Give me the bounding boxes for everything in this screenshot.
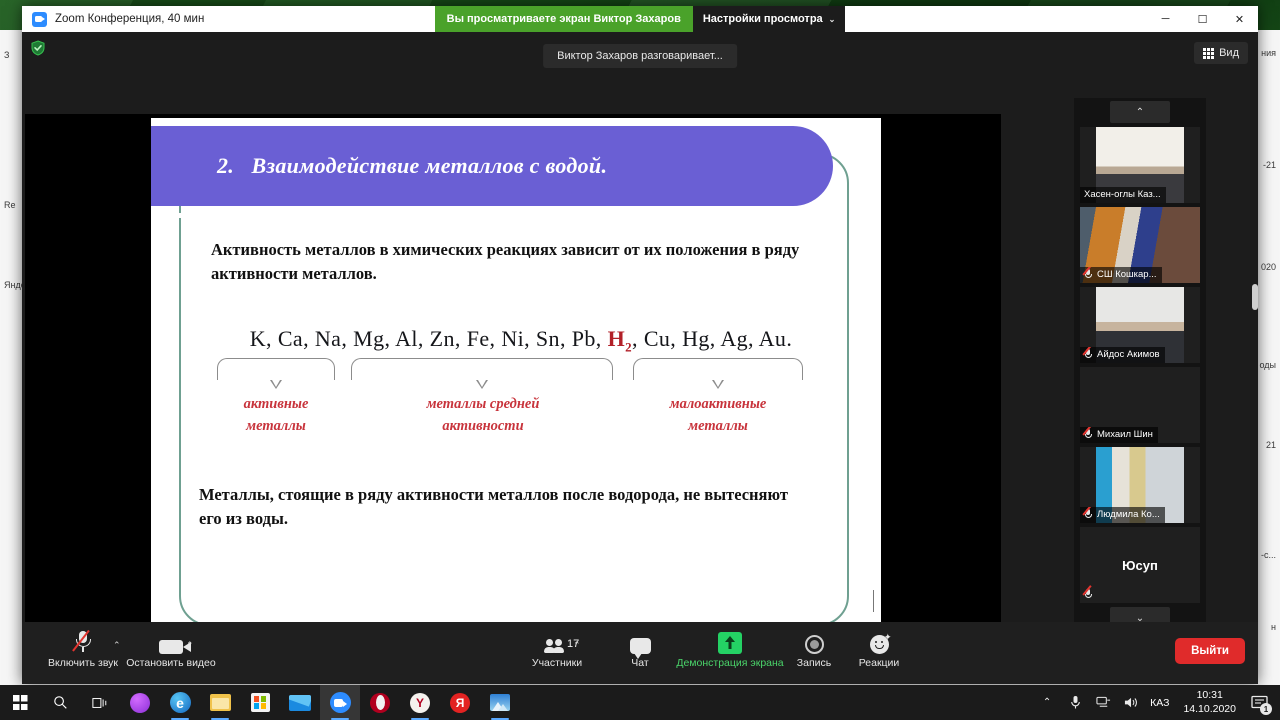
bg-fragment: 21 [1266,440,1276,450]
system-tray: ⌃ КАЗ 10:31 14.10.2020 1 [1034,685,1280,720]
zoom-window-body: Виктор Захаров разговаривает... Вид 2. В… [22,32,1258,684]
grid-icon [1203,48,1214,59]
zoom-meeting-window: Zoom Конференция, 40 мин ─ ☐ ✕ Вы просма… [22,6,1258,684]
microphone-muted-icon [1084,509,1093,520]
slide-intro-paragraph: Активность металлов в химических реакция… [211,238,811,286]
participant-name-badge: Людмила Ко... [1080,507,1165,523]
microphone-muted-icon [1084,349,1093,360]
meeting-control-bar: Включить звук ⌃ Остановить видео ⌃ 17 [22,622,1258,684]
bg-fragment: н [1271,622,1276,632]
tray-overflow-caret-icon[interactable]: ⌃ [1034,685,1060,720]
participant-tile[interactable]: Хасен-оглы Каз... [1080,127,1200,203]
slide-title-number: 2. [217,153,234,178]
window-title-bar: Zoom Конференция, 40 мин ─ ☐ ✕ Вы просма… [22,6,1258,32]
audio-label: Включить звук [48,657,118,669]
series-group-braces [211,358,831,390]
reactions-label: Реакции [859,657,900,669]
record-icon [805,628,824,654]
start-windows-icon[interactable] [0,685,40,720]
clock-date: 14.10.2020 [1183,703,1236,716]
notification-count: 1 [1260,703,1272,715]
participant-tile[interactable]: Михаил Шин [1080,367,1200,443]
video-options-caret-icon[interactable]: ⌃ [186,640,194,651]
share-screen-label: Демонстрация экрана [676,657,783,669]
participant-tile[interactable]: Людмила Ко... [1080,447,1200,523]
text-caret [873,590,874,612]
chevron-down-icon: ⌄ [829,15,836,24]
active-speaker-chip: Виктор Захаров разговаривает... [543,44,737,68]
sidebar-resize-handle[interactable] [1252,284,1258,310]
bg-fragment: ния [1261,48,1276,58]
task-view-icon[interactable] [80,685,120,720]
file-explorer-icon[interactable] [200,685,240,720]
bg-fragment: -21 [1263,160,1276,170]
participants-label: Участники [532,657,582,669]
shield-icon [30,40,46,56]
bg-fragment: -с... [1261,550,1276,560]
zoom-icon [32,12,47,27]
people-icon: 17 [544,628,570,654]
group-label-active: активныеметаллы [211,394,341,438]
slide-title-underline [153,214,797,217]
bg-fragment: 020 [1261,262,1276,272]
series-before-hydrogen: K, Ca, Na, Mg, Al, Zn, Fe, Ni, Sn, Pb, [250,326,602,351]
brace-low-active-metals [633,358,803,380]
slide-title-banner: 2. Взаимодействие металлов с водой. [151,126,833,206]
yandex-browser-icon[interactable]: Y [400,685,440,720]
microphone-muted-icon [1084,429,1093,440]
view-mode-label: Вид [1219,47,1239,59]
clock-time: 10:31 [1197,689,1223,702]
participant-tile[interactable]: СШ Кошкар... [1080,207,1200,283]
participant-name: СШ Кошкар... [1097,269,1157,280]
record-label: Запись [797,657,831,669]
filmstrip-scroll-up-button[interactable]: ⌃ [1110,101,1170,123]
slide-title-text: Взаимодействие металлов с водой. [252,153,608,178]
presentation-slide: 2. Взаимодействие металлов с водой. Акти… [151,118,881,640]
window-controls: ─ ☐ ✕ [1147,6,1258,32]
bg-fragment: Re [4,200,16,210]
hydrogen-symbol: H2 [608,326,632,351]
camera-icon [159,628,183,654]
opera-browser-icon[interactable] [360,685,400,720]
windows-taskbar: e [0,685,1280,720]
view-mode-button[interactable]: Вид [1194,42,1248,64]
participants-options-caret-icon[interactable]: ⌃ [573,640,581,651]
microphone-muted-icon [74,628,93,654]
view-options-label: Настройки просмотра [703,13,823,25]
share-screen-icon [718,628,742,654]
microphone-icon[interactable] [1062,685,1088,720]
participant-name: Айдос Акимов [1097,349,1160,360]
network-icon[interactable] [1090,685,1116,720]
volume-icon[interactable] [1118,685,1144,720]
group-label-medium: металлы среднейактивности [347,394,619,438]
shared-screen-stage[interactable]: 2. Взаимодействие металлов с водой. Акти… [25,114,1001,643]
participant-name-badge: СШ Кошкар... [1080,267,1162,283]
video-button[interactable]: Остановить видео [128,628,214,669]
participant-name: Михаил Шин [1097,429,1153,440]
participant-name-badge: Хасен-оглы Каз... [1080,187,1166,203]
clock[interactable]: 10:31 14.10.2020 [1175,689,1244,715]
search-icon[interactable] [40,685,80,720]
bg-fragment: З [4,50,9,60]
series-after-hydrogen: , Cu, Hg, Ag, Au. [632,326,792,351]
participant-name-badge: Айдос Акимов [1080,347,1165,363]
microphone-muted-icon [1084,589,1093,600]
group-label-low: малоактивныеметаллы [629,394,807,438]
action-center-icon[interactable]: 1 [1246,685,1274,720]
yandex-icon[interactable]: Я [440,685,480,720]
participant-name-badge: Михаил Шин [1080,427,1158,443]
audio-options-caret-icon[interactable]: ⌃ [113,640,121,651]
mail-icon[interactable] [280,685,320,720]
reactions-icon: ✦ [870,628,889,654]
chat-bubble-icon [630,628,651,654]
slide-title: 2. Взаимодействие металлов с водой. [151,153,607,179]
close-button[interactable]: ✕ [1221,6,1258,32]
activity-series-row: K, Ca, Na, Mg, Al, Zn, Fe, Ni, Sn, Pb, H… [211,326,831,355]
zoom-icon[interactable] [320,685,360,720]
slide-outro-paragraph: Металлы, стоящие в ряду активности метал… [199,483,814,531]
language-indicator[interactable]: КАЗ [1146,697,1173,709]
participant-tile[interactable]: Айдос Акимов [1080,287,1200,363]
window-title: Zoom Конференция, 40 мин [55,13,204,25]
view-options-button[interactable]: Настройки просмотра ⌄ [693,6,846,32]
microsoft-store-icon[interactable] [240,685,280,720]
maximize-button[interactable]: ☐ [1184,6,1221,32]
participant-filmstrip: ⌃ Хасен-оглы Каз... СШ Кошкар... [1074,98,1206,643]
minimize-button[interactable]: ─ [1147,6,1184,32]
participant-name: Людмила Ко... [1097,509,1160,520]
sharing-banner: Вы просматриваете экран Виктор Захаров [435,6,693,32]
leave-meeting-button[interactable]: Выйти [1175,638,1245,664]
participant-name: Хасен-оглы Каз... [1084,189,1161,200]
reactions-button[interactable]: ✦ Реакции [836,628,922,669]
series-group-labels: активныеметаллы металлы среднейактивност… [211,394,831,450]
participant-tile[interactable]: Юсуп [1080,527,1200,603]
video-label: Остановить видео [126,657,215,669]
participants-button[interactable]: 17 Участники [514,628,600,669]
participant-display-name: Юсуп [1080,527,1200,603]
photos-icon[interactable] [480,685,520,720]
edge-browser-icon[interactable]: e [160,685,200,720]
bg-fragment: оды [1259,360,1276,370]
microphone-muted-icon [1084,269,1093,280]
cortana-icon[interactable] [120,685,160,720]
screen-share-notice-bar: Вы просматриваете экран Виктор Захаров Н… [22,6,1258,32]
brace-medium-metals [351,358,613,380]
brace-active-metals [217,358,335,380]
